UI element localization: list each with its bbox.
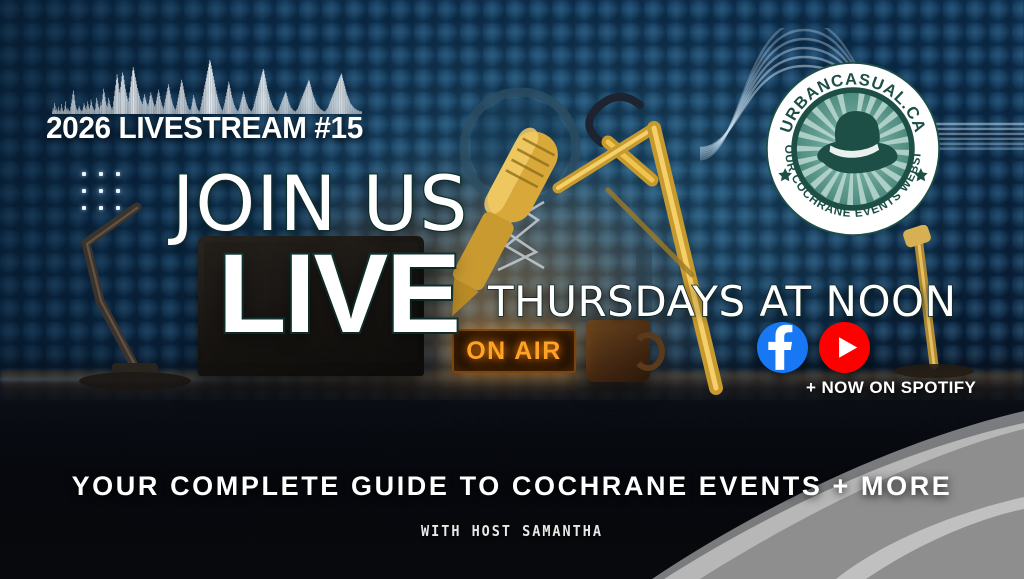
urbancasual-badge-logo[interactable]: URBANCASUAL.CA YOUR COCHRANE EVENTS WEBS… — [766, 62, 940, 236]
schedule-text: THURSDAYS AT NOON — [488, 281, 957, 323]
promo-banner: ON AIR — [0, 0, 1024, 579]
grid-dot — [99, 189, 103, 193]
grid-dot — [82, 206, 86, 210]
on-air-label: ON AIR — [466, 339, 562, 364]
host-credit-text: WITH HOST SAMANTHA — [51, 524, 973, 539]
kicker-text: 2026 LIVESTREAM #15 — [46, 112, 363, 143]
youtube-icon[interactable] — [819, 322, 870, 373]
dot-grid-decoration — [82, 172, 120, 210]
grid-dot — [116, 172, 120, 176]
tagline-text: YOUR COMPLETE GUIDE TO COCHRANE EVENTS +… — [0, 473, 1024, 500]
grid-dot — [116, 189, 120, 193]
facebook-icon[interactable] — [757, 322, 808, 373]
headline-live: LIVE — [218, 238, 459, 350]
brand-badge-group: URBANCASUAL.CA YOUR COCHRANE EVENTS WEBS… — [700, 28, 1024, 258]
audio-waveform — [52, 56, 362, 114]
grid-dot — [82, 189, 86, 193]
grid-dot — [99, 206, 103, 210]
on-air-sign: ON AIR — [452, 329, 576, 373]
coffee-mug — [586, 320, 650, 382]
social-icons-group — [757, 322, 870, 373]
grid-dot — [82, 172, 86, 176]
grid-dot — [99, 172, 103, 176]
grid-dot — [116, 206, 120, 210]
